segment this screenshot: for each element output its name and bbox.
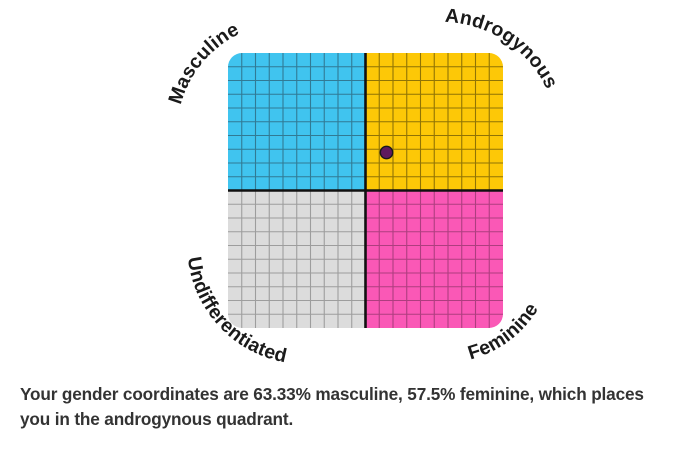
result-caption-text: Your gender coordinates are 63.33% mascu… — [20, 382, 665, 432]
user-coordinate-marker[interactable] — [380, 146, 392, 158]
quadrant-undifferentiated — [228, 191, 366, 329]
gender-quadrant-result: Masculine Androgynous Undifferentiated F… — [0, 0, 690, 463]
quadrant-plot-svg: Masculine Androgynous Undifferentiated F… — [0, 0, 690, 380]
result-caption: Your gender coordinates are 63.33% mascu… — [0, 382, 690, 432]
quadrant-masculine — [228, 53, 366, 191]
data-point[interactable] — [380, 146, 392, 158]
quadrant-androgynous — [366, 53, 504, 191]
quadrant-feminine — [366, 191, 504, 329]
quadrant-chart: Masculine Androgynous Undifferentiated F… — [0, 0, 690, 380]
quadrant-fills — [228, 53, 503, 328]
